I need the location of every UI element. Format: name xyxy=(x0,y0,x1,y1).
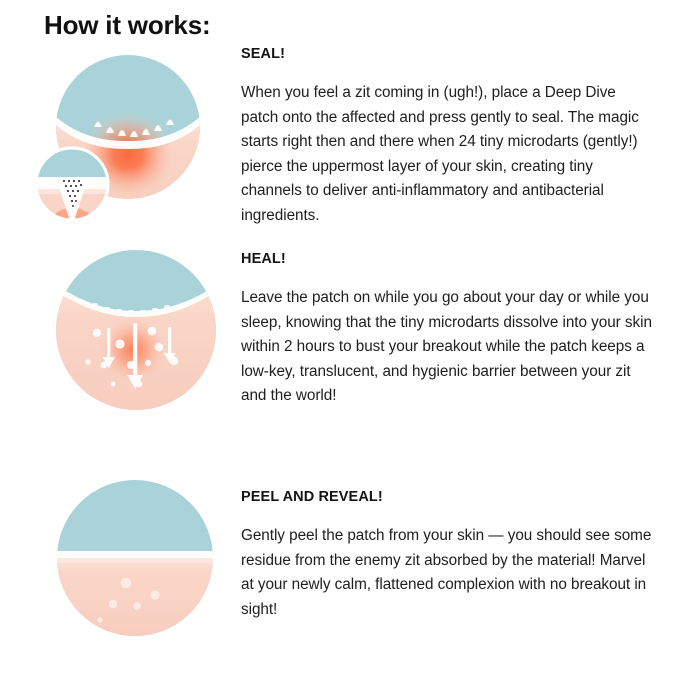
seal-copy: SEAL! When you feel a zit coming in (ugh… xyxy=(241,45,653,229)
step-heal: HEAL! Leave the patch on while you go ab… xyxy=(0,245,679,445)
peel-and-reveal-figure xyxy=(0,470,230,650)
seal-illustration xyxy=(0,45,230,240)
heal-copy: HEAL! Leave the patch on while you go ab… xyxy=(241,250,653,409)
heal-figure xyxy=(0,245,230,425)
skin-layer xyxy=(55,557,217,642)
seal-figure xyxy=(0,45,230,240)
step-heading-peel-and-reveal: PEEL AND REVEAL! xyxy=(241,488,653,506)
step-peel-and-reveal: PEEL AND REVEAL! Gently peel the patch f… xyxy=(0,470,679,655)
peel-and-reveal-copy: PEEL AND REVEAL! Gently peel the patch f… xyxy=(241,488,653,622)
heal-illustration xyxy=(0,245,230,425)
peel-gap xyxy=(70,552,198,555)
step-body-heal: Leave the patch on while you go about yo… xyxy=(241,286,653,409)
step-body-peel-and-reveal: Gently peel the patch from your skin — y… xyxy=(241,524,653,622)
step-seal: SEAL! When you feel a zit coming in (ugh… xyxy=(0,45,679,240)
step-heading-heal: HEAL! xyxy=(241,250,653,268)
peel-main-circle xyxy=(55,478,217,642)
step-heading-seal: SEAL! xyxy=(241,45,653,63)
skin-highlight xyxy=(55,558,217,563)
microdart-inset xyxy=(35,147,110,235)
how-it-works-page: How it works: xyxy=(0,0,679,679)
step-body-seal: When you feel a zit coming in (ugh!), pl… xyxy=(241,81,653,229)
heal-main-circle xyxy=(56,250,216,415)
peel-and-reveal-illustration xyxy=(0,470,230,650)
page-title: How it works: xyxy=(44,8,210,42)
